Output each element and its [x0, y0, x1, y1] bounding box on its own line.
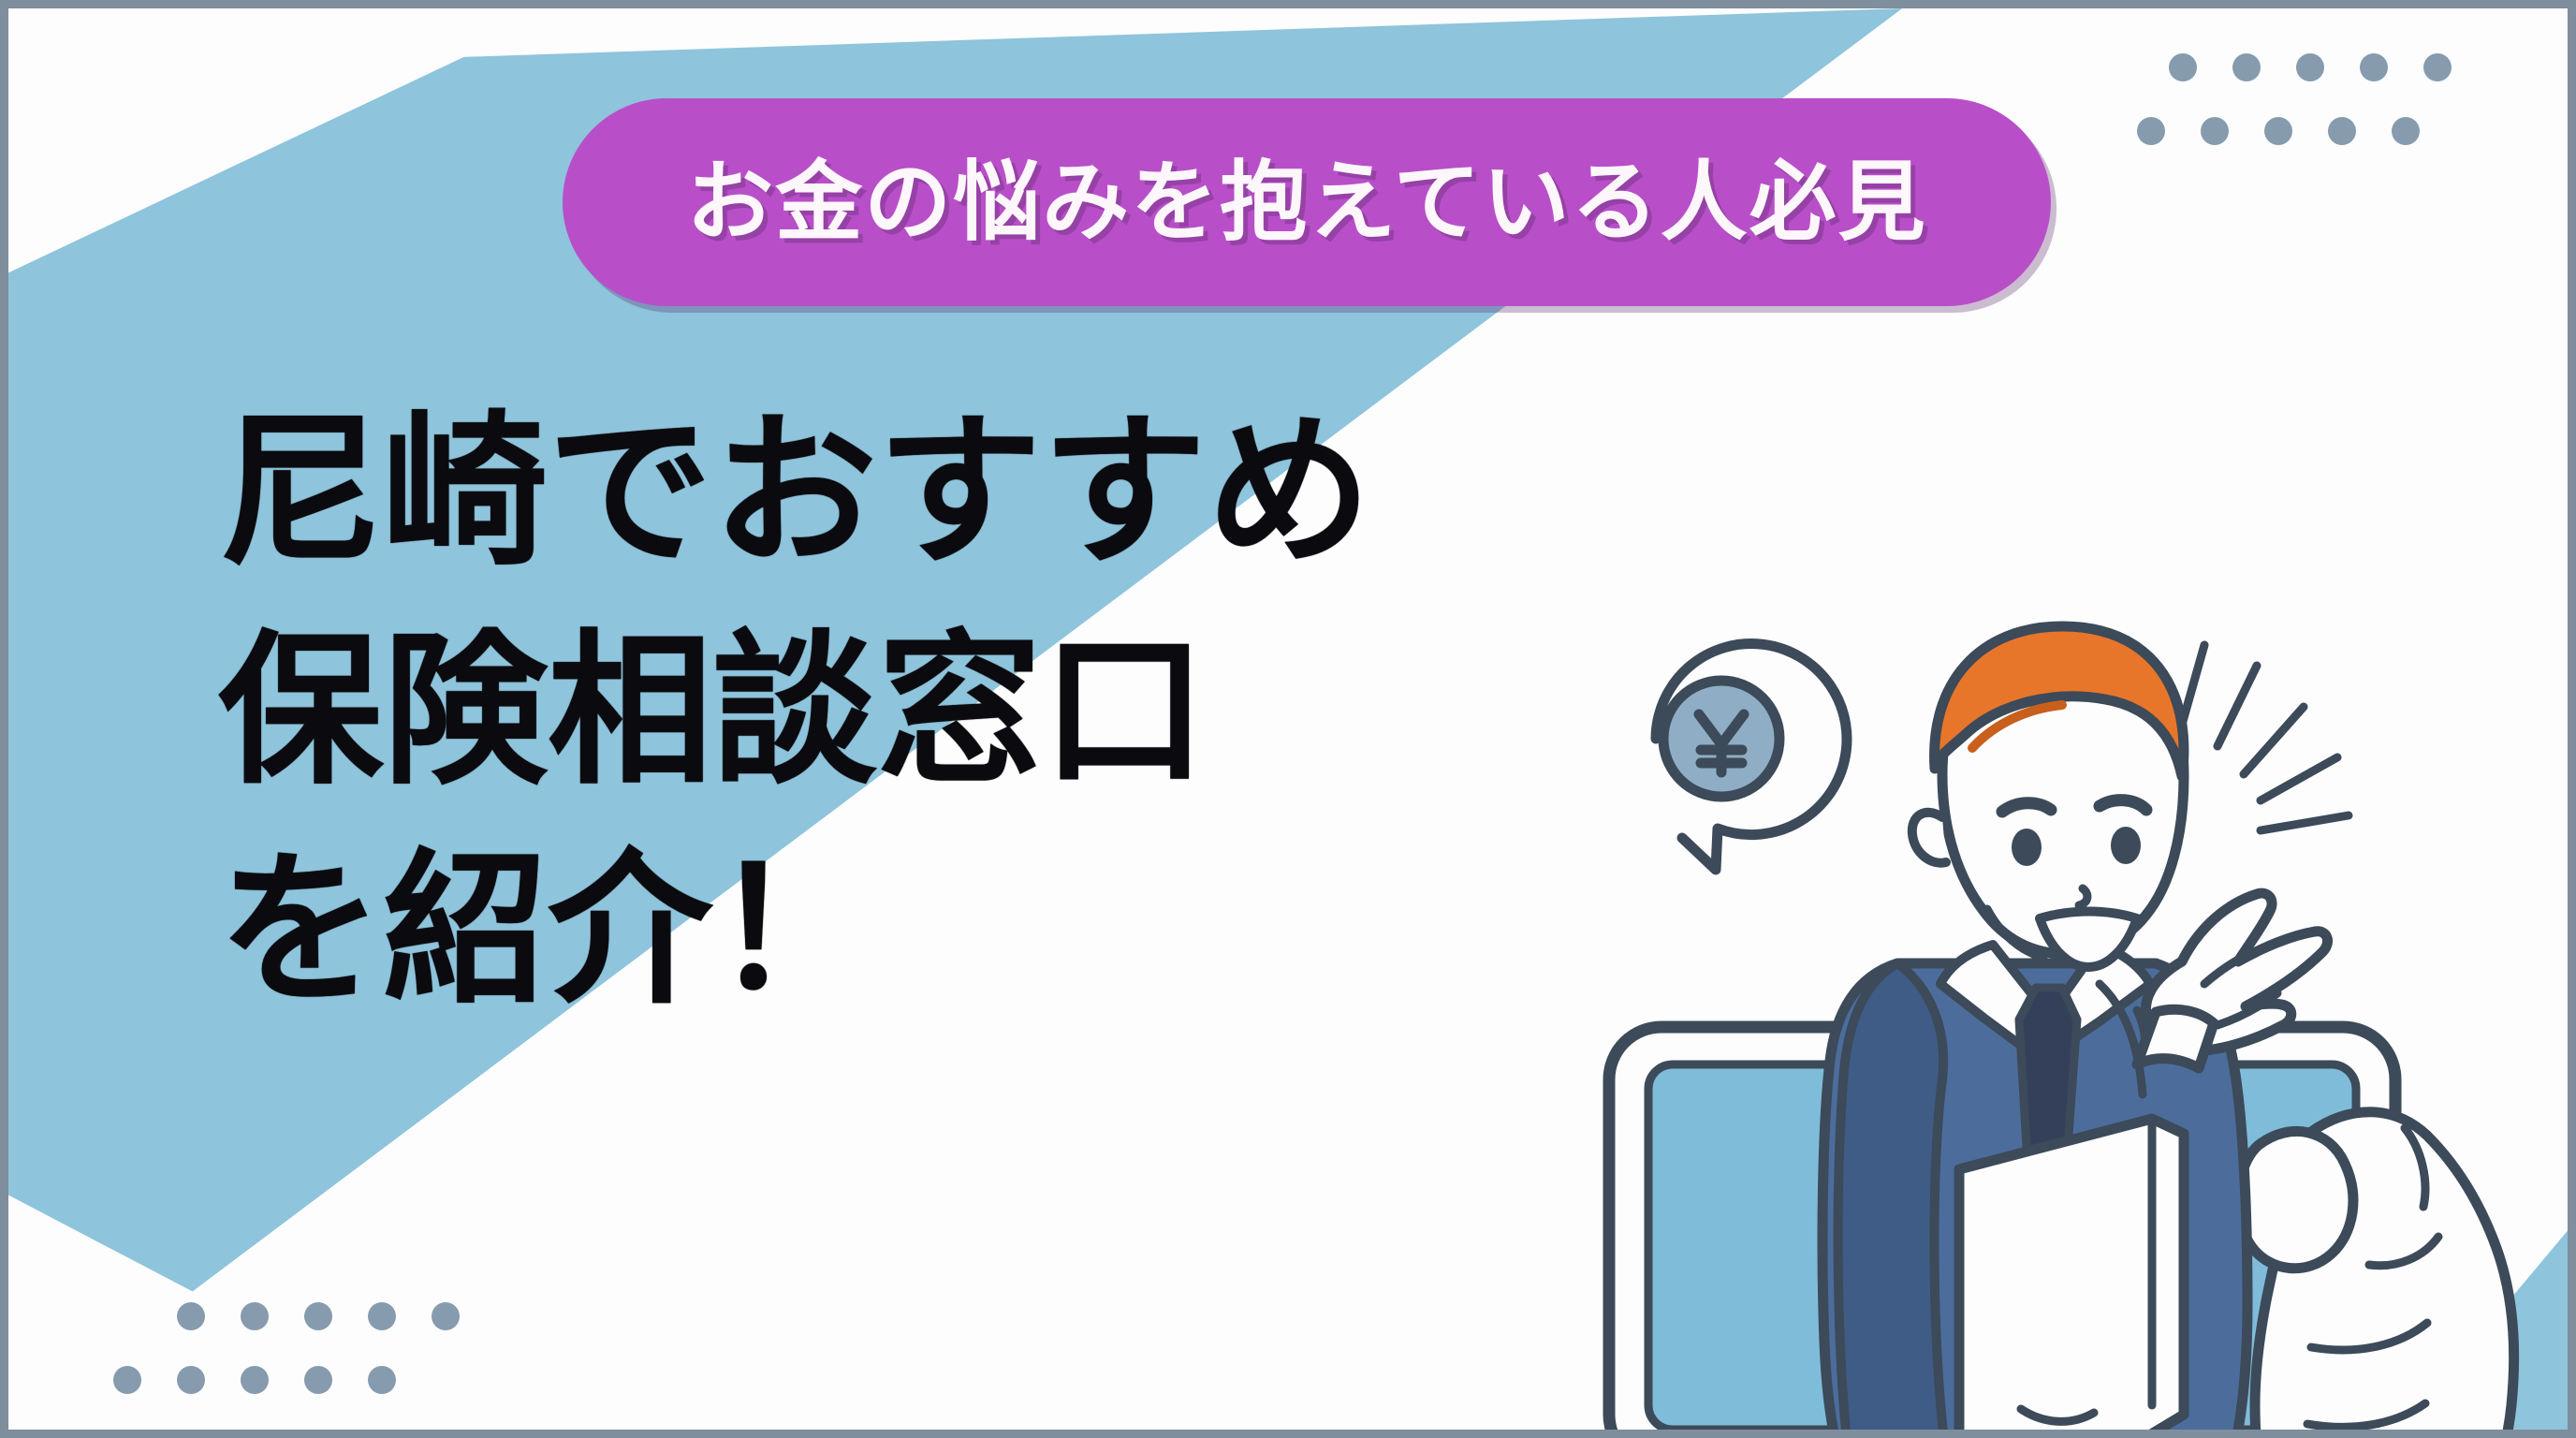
decor-dot [2232, 53, 2261, 81]
page-title-line-3: を紹介！ [218, 821, 1809, 1040]
document-folder [1959, 1119, 2184, 1437]
emphasis-lines [2180, 645, 2349, 830]
decor-dot [2264, 117, 2292, 145]
businessman-head [1912, 626, 2184, 967]
highlight-badge: お金の悩みを抱えている人必見 [563, 98, 2051, 306]
decor-dot [2423, 53, 2452, 81]
decor-dot [368, 1302, 396, 1330]
highlight-badge-label: お金の悩みを抱えている人必見 [686, 159, 1926, 246]
hero-illustration [1600, 608, 2576, 1438]
decor-dot [432, 1302, 460, 1330]
page-title: 尼崎でおすすめ 保険相談窓口 を紹介！ [218, 383, 1809, 1040]
decor-dot [304, 1302, 332, 1330]
decor-dot [2328, 117, 2356, 145]
decor-dot [2137, 117, 2165, 145]
poster-canvas: お金の悩みを抱えている人必見 尼崎でおすすめ 保険相談窓口 を紹介！ [0, 0, 2576, 1438]
decor-dot [241, 1366, 269, 1394]
decor-dot [368, 1366, 396, 1394]
decor-dot [177, 1302, 205, 1330]
decor-dot [177, 1366, 205, 1394]
decor-dot [241, 1302, 269, 1330]
decor-dot [113, 1366, 141, 1394]
yen-coin-speech-bubble [1656, 644, 1847, 870]
decor-dot [304, 1366, 332, 1394]
decor-dot [2360, 53, 2388, 81]
page-title-line-2: 保険相談窓口 [218, 602, 1809, 821]
decor-dot [2392, 117, 2420, 145]
decor-dot [2296, 53, 2324, 81]
holding-hand [2239, 1112, 2514, 1438]
decor-dot [2169, 53, 2197, 81]
page-title-line-1: 尼崎でおすすめ [218, 383, 1809, 602]
decor-dot [2201, 117, 2229, 145]
